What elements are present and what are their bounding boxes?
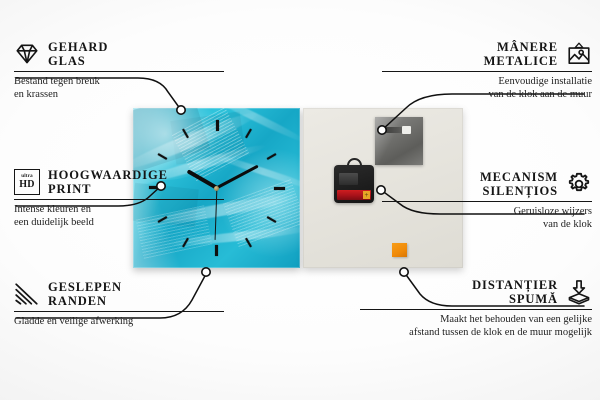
spacer-foam-icon bbox=[566, 279, 592, 305]
connector-node-distantier-spuma bbox=[400, 268, 408, 276]
foam-spacer bbox=[392, 243, 407, 257]
feature-gehard-glas: GEHARD GLAS Bestand tegen breuk en krass… bbox=[14, 40, 224, 101]
feature-desc-line2: en krassen bbox=[14, 89, 224, 102]
ultra-hd-icon: ultra HD bbox=[14, 169, 40, 195]
feature-desc-line1: Gladde en veilige afwerking bbox=[14, 316, 224, 329]
feature-manere-metalice: MÂNERE METALICE Eenvoudige installatie v… bbox=[382, 40, 592, 101]
feature-title-line1: DISTANȚIER bbox=[472, 278, 558, 292]
feature-desc-line2: afstand tussen de klok en de muur mogeli… bbox=[360, 327, 592, 340]
feature-title-line1: GEHARD bbox=[48, 40, 108, 54]
beveled-edges-icon bbox=[14, 281, 40, 307]
picture-frame-icon bbox=[566, 41, 592, 67]
feature-divider bbox=[14, 71, 224, 72]
feature-divider bbox=[360, 309, 592, 310]
feature-divider bbox=[382, 71, 592, 72]
feature-desc-line2: een duidelijk beeld bbox=[14, 217, 224, 230]
feature-desc-line1: Geruisloze wijzers bbox=[382, 206, 592, 219]
feature-hd-print: ultra HD HOOGWAARDIGE PRINT Intense kleu… bbox=[14, 168, 224, 229]
diamond-icon bbox=[14, 41, 40, 67]
feature-desc-line1: Eenvoudige installatie bbox=[382, 76, 592, 89]
feature-divider bbox=[14, 199, 224, 200]
ultra-hd-icon-main-text: HD bbox=[19, 180, 35, 190]
feature-geslepen-randen: GESLEPEN RANDEN Gladde en veilige afwerk… bbox=[14, 280, 224, 329]
feature-desc-line1: Maakt het behouden van een gelijke bbox=[360, 314, 592, 327]
clock-movement-box: + bbox=[334, 165, 374, 203]
feature-title-line2: METALICE bbox=[484, 54, 558, 68]
battery: + bbox=[337, 190, 371, 200]
feature-title-line1: GESLEPEN bbox=[48, 280, 122, 294]
battery-polarity-label: + bbox=[363, 191, 370, 199]
connector-node-geslepen-randen bbox=[202, 268, 210, 276]
feature-mecanism-silentios: MECANISM SILENȚIOS Geruisloze wijzers va… bbox=[382, 170, 592, 231]
feature-divider bbox=[14, 311, 224, 312]
movement-shaft bbox=[339, 173, 358, 185]
feature-title-line2: SPUMĂ bbox=[472, 292, 558, 306]
feature-desc-line2: van de klok bbox=[382, 219, 592, 232]
feature-title-line2: GLAS bbox=[48, 54, 108, 68]
feature-title-line2: PRINT bbox=[48, 182, 168, 196]
feature-desc-line2: van de klok aan de muur bbox=[382, 89, 592, 102]
feature-distantier-spuma: DISTANȚIER SPUMĂ Maakt het behouden van … bbox=[360, 278, 592, 339]
metal-hanger-plate bbox=[375, 117, 423, 165]
feature-desc-line1: Intense kleuren en bbox=[14, 204, 224, 217]
feature-title-line2: SILENȚIOS bbox=[480, 184, 558, 198]
feature-desc-line1: Bestand tegen breuk bbox=[14, 76, 224, 89]
feature-divider bbox=[382, 201, 592, 202]
feature-title-line1: HOOGWAARDIGE bbox=[48, 168, 168, 182]
feature-title-line2: RANDEN bbox=[48, 294, 122, 308]
gear-icon bbox=[566, 171, 592, 197]
feature-title-line1: MÂNERE bbox=[484, 40, 558, 54]
infographic-canvas: + bbox=[0, 0, 600, 400]
feature-title-line1: MECANISM bbox=[480, 170, 558, 184]
